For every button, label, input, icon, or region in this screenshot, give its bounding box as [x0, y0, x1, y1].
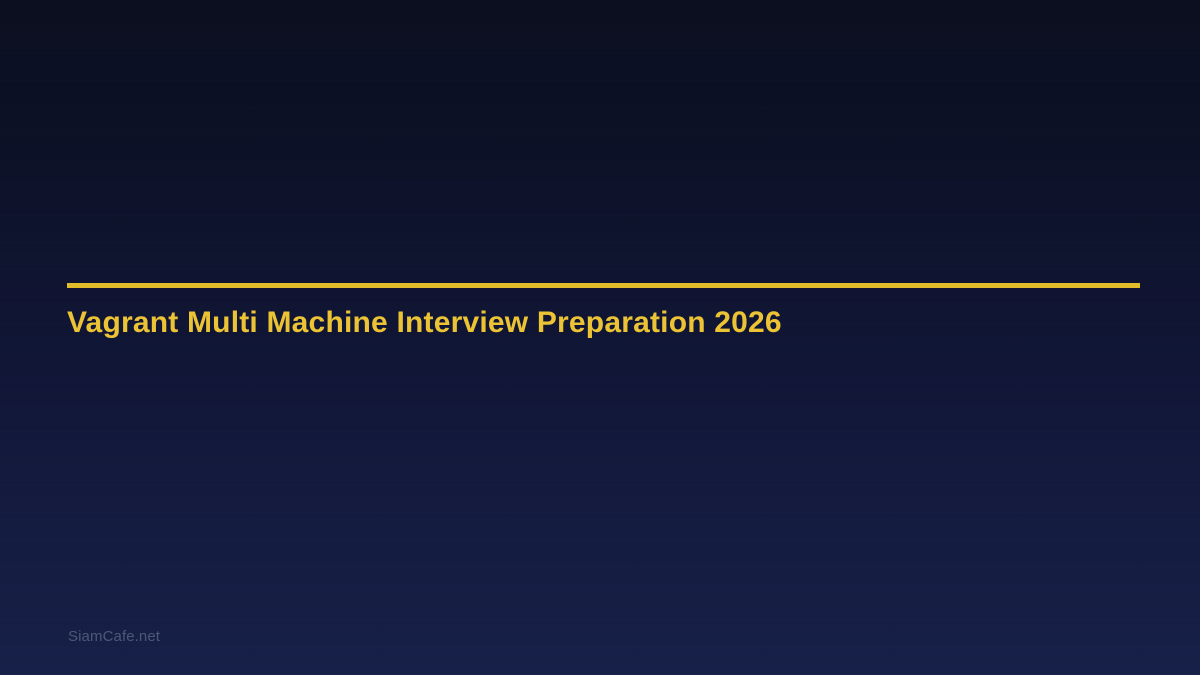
presentation-slide: Vagrant Multi Machine Interview Preparat… [0, 0, 1200, 675]
title-block: Vagrant Multi Machine Interview Preparat… [67, 283, 1140, 341]
slide-title: Vagrant Multi Machine Interview Preparat… [67, 288, 1140, 341]
watermark-label: SiamCafe.net [68, 628, 160, 645]
